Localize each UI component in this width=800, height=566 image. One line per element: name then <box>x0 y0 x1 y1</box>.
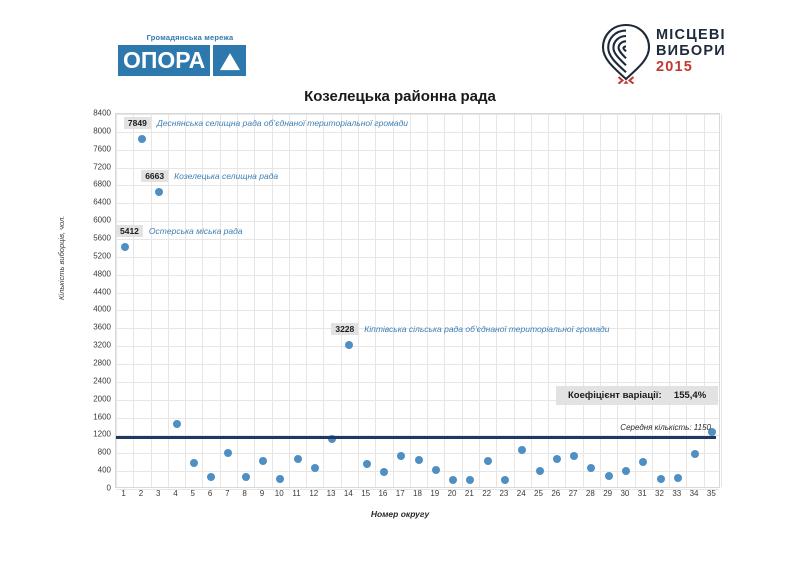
spiral-pin-icon <box>600 22 652 84</box>
chart-title: Козелецька районна рада <box>0 88 800 105</box>
x-tick-label: 30 <box>620 489 629 498</box>
x-tick-label: 20 <box>448 489 457 498</box>
mean-line <box>116 436 716 439</box>
y-tick-label: 2000 <box>78 394 111 403</box>
x-tick-label: 16 <box>378 489 387 498</box>
opora-tagline: Громадянська мережа <box>118 33 262 42</box>
x-tick-label: 25 <box>534 489 543 498</box>
y-tick-label: 1600 <box>78 412 111 421</box>
gridline-vertical <box>514 114 515 487</box>
gridline-vertical <box>393 114 394 487</box>
data-point[interactable] <box>121 243 129 251</box>
gridline-vertical <box>444 114 445 487</box>
data-point[interactable] <box>518 446 526 454</box>
annotation-value: 5412 <box>116 225 143 237</box>
local-elections-logo: МІСЦЕВІ ВИБОРИ 2015 <box>600 22 750 84</box>
data-point[interactable] <box>294 455 302 463</box>
y-axis-ticks: 0400800120016002000240028003200360040004… <box>78 113 111 488</box>
y-tick-label: 0 <box>78 484 111 493</box>
data-point[interactable] <box>276 475 284 483</box>
x-tick-label: 2 <box>139 489 143 498</box>
gridline-vertical <box>133 114 134 487</box>
x-tick-label: 18 <box>413 489 422 498</box>
x-tick-label: 26 <box>551 489 560 498</box>
y-tick-label: 5200 <box>78 251 111 260</box>
x-axis-ticks: 1234567891011121314151617181920212223242… <box>115 489 720 503</box>
triangle-up-icon <box>213 45 246 76</box>
data-point[interactable] <box>415 456 423 464</box>
x-tick-label: 15 <box>361 489 370 498</box>
data-point[interactable] <box>657 475 665 483</box>
gridline-vertical <box>289 114 290 487</box>
y-tick-label: 2800 <box>78 359 111 368</box>
gridline-vertical <box>358 114 359 487</box>
data-point[interactable] <box>553 455 561 463</box>
data-point[interactable] <box>570 452 578 460</box>
data-point[interactable] <box>484 457 492 465</box>
data-point[interactable] <box>345 341 353 349</box>
gridline-vertical <box>306 114 307 487</box>
mean-line-label: Середня кількість: 1150 <box>521 423 711 432</box>
y-tick-label: 3600 <box>78 323 111 332</box>
elections-logo-text: МІСЦЕВІ ВИБОРИ 2015 <box>656 27 726 76</box>
y-axis-title: Кількість виборців, чол. <box>57 216 66 300</box>
x-tick-label: 23 <box>499 489 508 498</box>
y-tick-label: 1200 <box>78 430 111 439</box>
x-tick-label: 31 <box>638 489 647 498</box>
annotation-text: Козелецька селищна рада <box>174 171 278 181</box>
x-tick-label: 13 <box>327 489 336 498</box>
data-point[interactable] <box>173 420 181 428</box>
x-tick-label: 21 <box>465 489 474 498</box>
data-point[interactable] <box>587 464 595 472</box>
y-tick-label: 2400 <box>78 376 111 385</box>
x-tick-label: 9 <box>260 489 264 498</box>
data-point[interactable] <box>311 464 319 472</box>
y-tick-label: 6400 <box>78 198 111 207</box>
x-tick-label: 11 <box>292 489 300 498</box>
gridline-vertical <box>479 114 480 487</box>
annotation-text: Кіптівська сільська рада об’єднаної тери… <box>364 324 609 334</box>
data-point[interactable] <box>622 467 630 475</box>
annotation-callout: 7849Деснянська селищна рада об’єднаної т… <box>124 117 408 129</box>
x-tick-label: 5 <box>191 489 195 498</box>
opora-wordmark: ОПОРА <box>118 45 210 76</box>
x-tick-label: 32 <box>655 489 664 498</box>
annotation-value: 7849 <box>124 117 151 129</box>
x-tick-label: 17 <box>396 489 405 498</box>
x-tick-label: 7 <box>225 489 229 498</box>
y-tick-label: 4400 <box>78 287 111 296</box>
gridline-vertical <box>496 114 497 487</box>
annotation-text: Остерська міська рада <box>149 226 243 236</box>
x-tick-label: 19 <box>430 489 439 498</box>
data-point[interactable] <box>605 472 613 480</box>
y-tick-label: 4800 <box>78 269 111 278</box>
gridline-vertical <box>462 114 463 487</box>
gridline-vertical <box>427 114 428 487</box>
gridline-vertical <box>341 114 342 487</box>
x-tick-label: 8 <box>242 489 246 498</box>
x-tick-label: 12 <box>309 489 318 498</box>
data-point[interactable] <box>536 467 544 475</box>
annotation-value: 3228 <box>331 323 358 335</box>
gridline-vertical <box>116 114 117 487</box>
data-point[interactable] <box>242 473 250 481</box>
data-point[interactable] <box>639 458 647 466</box>
y-tick-label: 800 <box>78 448 111 457</box>
gridline-vertical <box>375 114 376 487</box>
data-point[interactable] <box>224 449 232 457</box>
y-tick-label: 6800 <box>78 180 111 189</box>
data-point[interactable] <box>449 476 457 484</box>
y-tick-label: 400 <box>78 466 111 475</box>
y-tick-label: 8400 <box>78 109 111 118</box>
x-tick-label: 33 <box>672 489 681 498</box>
y-tick-label: 6000 <box>78 216 111 225</box>
x-tick-label: 24 <box>517 489 526 498</box>
x-tick-label: 10 <box>275 489 284 498</box>
x-tick-label: 3 <box>156 489 160 498</box>
data-point[interactable] <box>501 476 509 484</box>
cv-label: Коефіцієнт варіації: <box>568 390 662 401</box>
annotation-value: 6663 <box>141 170 168 182</box>
data-point[interactable] <box>380 468 388 476</box>
data-point[interactable] <box>363 460 371 468</box>
plot-area: Середня кількість: 1150 5412Остерська мі… <box>115 113 720 488</box>
opora-logo-boxes: ОПОРА <box>118 45 246 76</box>
y-tick-label: 3200 <box>78 341 111 350</box>
gridline-vertical <box>721 114 722 487</box>
data-point[interactable] <box>691 450 699 458</box>
elections-year: 2015 <box>656 59 726 76</box>
data-point[interactable] <box>397 452 405 460</box>
x-tick-label: 4 <box>173 489 177 498</box>
x-tick-label: 35 <box>707 489 716 498</box>
x-tick-label: 1 <box>121 489 125 498</box>
annotation-callout: 5412Остерська міська рада <box>116 225 243 237</box>
elections-line1: МІСЦЕВІ <box>656 27 726 43</box>
elections-line2: ВИБОРИ <box>656 43 726 59</box>
y-tick-label: 7600 <box>78 144 111 153</box>
data-point[interactable] <box>259 457 267 465</box>
gridline-vertical <box>410 114 411 487</box>
gridline-vertical <box>323 114 324 487</box>
annotation-callout: 6663Козелецька селищна рада <box>141 170 278 182</box>
opora-logo: Громадянська мережа ОПОРА <box>118 33 262 79</box>
x-tick-label: 22 <box>482 489 491 498</box>
y-tick-label: 5600 <box>78 234 111 243</box>
x-tick-label: 14 <box>344 489 353 498</box>
cv-value: 155,4% <box>674 390 706 401</box>
y-tick-label: 4000 <box>78 305 111 314</box>
x-axis-title: Номер округу <box>0 509 800 519</box>
annotation-callout: 3228Кіптівська сільська рада об’єднаної … <box>331 323 609 335</box>
data-point[interactable] <box>432 466 440 474</box>
x-tick-label: 28 <box>586 489 595 498</box>
x-tick-label: 27 <box>569 489 578 498</box>
x-tick-label: 29 <box>603 489 612 498</box>
data-point[interactable] <box>674 474 682 482</box>
coefficient-of-variation-badge: Коефіцієнт варіації: 155,4% <box>556 386 718 405</box>
x-tick-label: 6 <box>208 489 212 498</box>
data-point[interactable] <box>190 459 198 467</box>
annotation-text: Деснянська селищна рада об’єднаної терит… <box>157 118 408 128</box>
data-point[interactable] <box>138 135 146 143</box>
y-tick-label: 7200 <box>78 162 111 171</box>
data-point[interactable] <box>155 188 163 196</box>
x-tick-label: 34 <box>690 489 699 498</box>
y-tick-label: 8000 <box>78 126 111 135</box>
data-point[interactable] <box>466 476 474 484</box>
data-point[interactable] <box>207 473 215 481</box>
